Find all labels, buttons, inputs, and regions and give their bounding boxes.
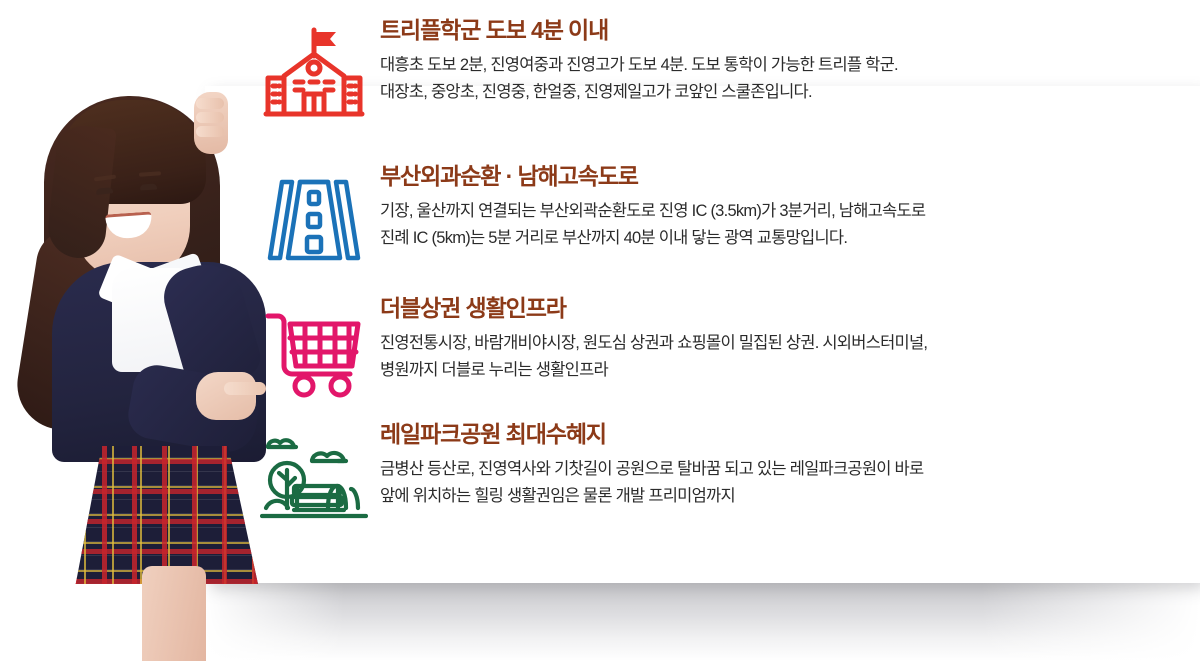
shopping-cart-icon bbox=[248, 296, 380, 398]
park-bench-tree-icon bbox=[248, 422, 380, 522]
feature-item-highway: 부산외과순환 · 남해고속도로 기장, 울산까지 연결되는 부산외곽순환도로 진… bbox=[248, 164, 1188, 296]
feature-text-school: 트리플학군 도보 4분 이내 대흥초 도보 2분, 진영여중과 진영고가 도보 … bbox=[380, 18, 898, 106]
feature-text-park: 레일파크공원 최대수혜지 금병산 등산로, 진영역사와 기찻길이 공원으로 탈바… bbox=[380, 422, 923, 510]
feature-body: 대흥초 도보 2분, 진영여중과 진영고가 도보 4분. 도보 통학이 가능한 … bbox=[380, 52, 898, 105]
highway-road-icon bbox=[248, 164, 380, 262]
school-building-icon bbox=[248, 18, 380, 120]
leg bbox=[142, 566, 206, 661]
feature-body: 진영전통시장, 바람개비야시장, 원도심 상권과 쇼핑몰이 밀집된 상권. 시외… bbox=[380, 330, 927, 383]
feature-item-commerce: 더블상권 생활인프라 진영전통시장, 바람개비야시장, 원도심 상권과 쇼핑몰이… bbox=[248, 296, 1188, 422]
tartan-plaid-skirt bbox=[72, 446, 258, 584]
feature-body: 기장, 울산까지 연결되는 부산외곽순환도로 진영 IC (3.5km)가 3분… bbox=[380, 198, 925, 251]
feature-title: 레일파크공원 최대수혜지 bbox=[380, 422, 923, 447]
promotional-poster: 트리플학군 도보 4분 이내 대흥초 도보 2분, 진영여중과 진영고가 도보 … bbox=[0, 0, 1200, 661]
feature-title: 더블상권 생활인프라 bbox=[380, 296, 927, 321]
hand-gripping-board bbox=[194, 92, 228, 154]
feature-title: 트리플학군 도보 4분 이내 bbox=[380, 18, 898, 43]
pointing-hand bbox=[196, 372, 256, 420]
eye-right bbox=[140, 184, 157, 191]
feature-text-commerce: 더블상권 생활인프라 진영전통시장, 바람개비야시장, 원도심 상권과 쇼핑몰이… bbox=[380, 296, 927, 384]
feature-item-park: 레일파크공원 최대수혜지 금병산 등산로, 진영역사와 기찻길이 공원으로 탈바… bbox=[248, 422, 1188, 552]
feature-item-school: 트리플학군 도보 4분 이내 대흥초 도보 2분, 진영여중과 진영고가 도보 … bbox=[248, 18, 1188, 164]
board-drop-shadow bbox=[205, 583, 1200, 661]
feature-text-highway: 부산외과순환 · 남해고속도로 기장, 울산까지 연결되는 부산외곽순환도로 진… bbox=[380, 164, 925, 252]
feature-title: 부산외과순환 · 남해고속도로 bbox=[380, 164, 925, 189]
feature-list: 트리플학군 도보 4분 이내 대흥초 도보 2분, 진영여중과 진영고가 도보 … bbox=[248, 18, 1188, 552]
feature-body: 금병산 등산로, 진영역사와 기찻길이 공원으로 탈바꿈 되고 있는 레일파크공… bbox=[380, 456, 923, 509]
